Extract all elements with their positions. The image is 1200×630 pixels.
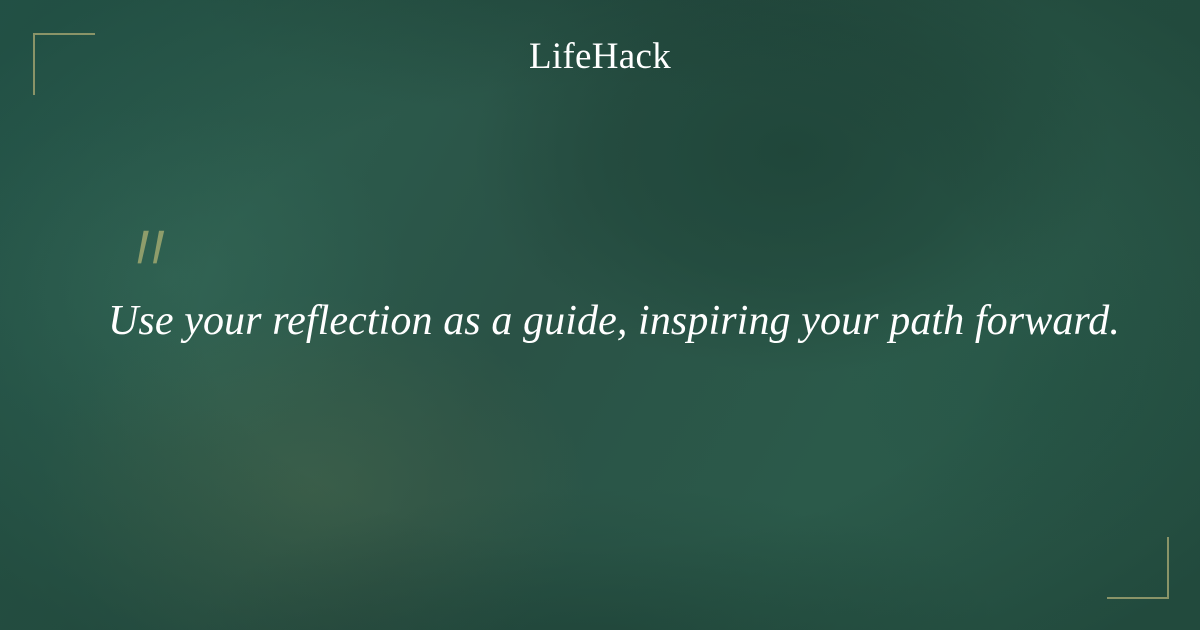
double-quote-icon xyxy=(131,230,175,266)
quote-card: LifeHack Use your reflection as a guide,… xyxy=(0,0,1200,630)
quote-text: Use your reflection as a guide, inspirin… xyxy=(108,296,1128,347)
brand-logo: LifeHack xyxy=(0,38,1200,75)
corner-bracket-bottom-right-icon xyxy=(1107,537,1169,599)
